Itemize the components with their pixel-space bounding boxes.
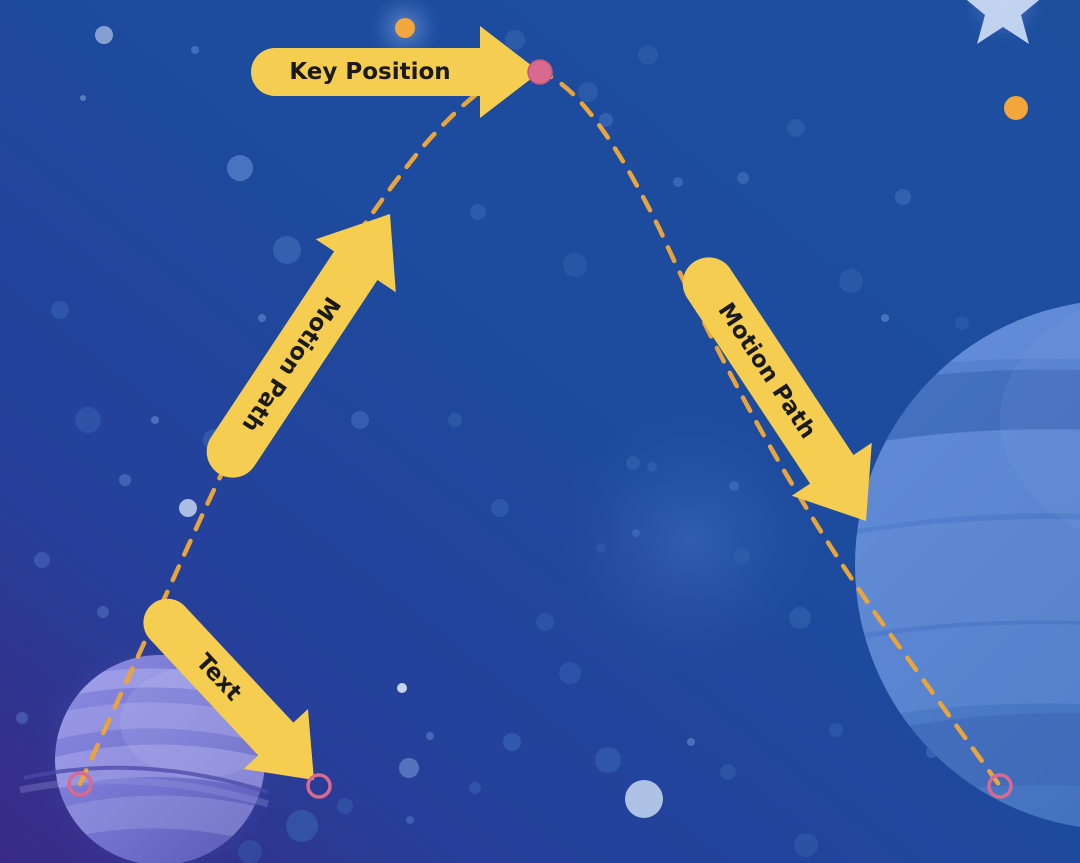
annotation-key-position-label: Key Position xyxy=(289,59,450,85)
key-position-marker[interactable] xyxy=(528,60,552,84)
motion-path-scene: Key Position Motion Path Motion Path Tex… xyxy=(0,0,1080,863)
illustration-canvas: Key Position Motion Path Motion Path Tex… xyxy=(0,0,1080,863)
